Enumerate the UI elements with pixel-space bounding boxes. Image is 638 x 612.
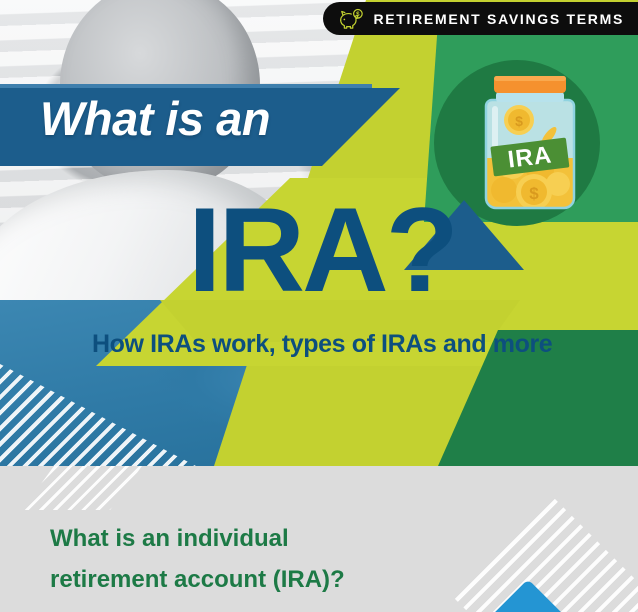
diagonal-stripes-top-left bbox=[22, 466, 142, 510]
svg-text:$: $ bbox=[357, 11, 361, 18]
hero-section: What is an IRA? How IRAs work, types of … bbox=[0, 0, 638, 466]
infographic-page: What is an IRA? How IRAs work, types of … bbox=[0, 0, 638, 612]
badge-label: RETIREMENT SAVINGS TERMS bbox=[373, 11, 624, 27]
svg-text:$: $ bbox=[529, 184, 539, 203]
retirement-savings-terms-badge[interactable]: $ RETIREMENT SAVINGS TERMS bbox=[323, 2, 638, 35]
piggy-bank-icon: $ bbox=[338, 8, 364, 30]
section-question-heading: What is an individual retirement account… bbox=[50, 518, 490, 601]
svg-text:IRA: IRA bbox=[506, 141, 553, 173]
question-line-2: retirement account (IRA)? bbox=[50, 559, 490, 600]
savings-jar-illustration: $ $ $ bbox=[478, 66, 582, 218]
hero-title: IRA? bbox=[188, 190, 456, 310]
question-line-1: What is an individual bbox=[50, 518, 490, 559]
hero-subtitle: How IRAs work, types of IRAs and more bbox=[92, 330, 552, 359]
hero-eyebrow: What is an bbox=[40, 95, 270, 142]
svg-text:$: $ bbox=[515, 113, 523, 129]
